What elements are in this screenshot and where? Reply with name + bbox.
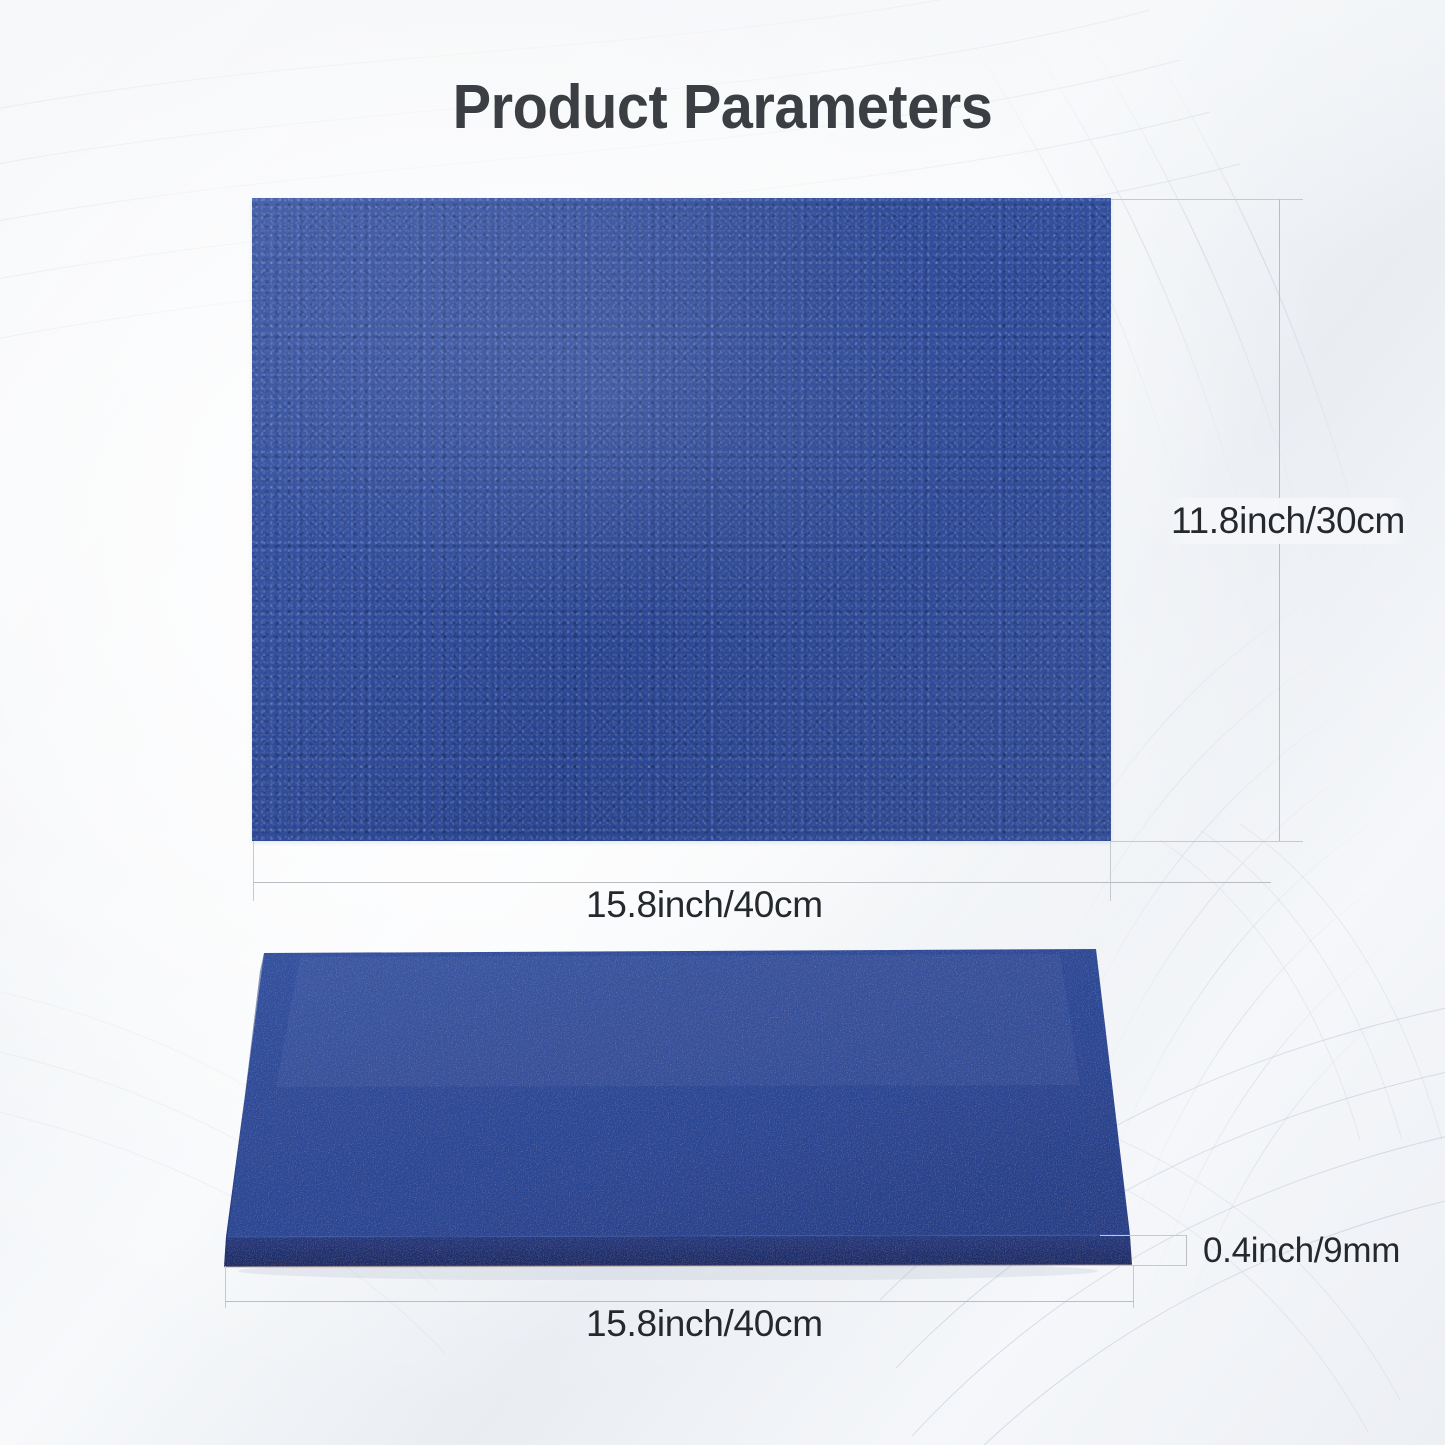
product-front-view <box>252 198 1111 841</box>
thickness-dimension-label: 0.4inch/9mm <box>1203 1231 1400 1271</box>
height-extension-line-top <box>1111 199 1303 200</box>
height-extension-line-bottom <box>1111 841 1303 842</box>
width-perspective-dimension-label: 15.8inch/40cm <box>586 1303 823 1345</box>
panel-sheen-overlay <box>252 198 1111 841</box>
width-front-dimension-label: 15.8inch/40cm <box>586 884 823 926</box>
thickness-dimension-line <box>1186 1235 1187 1266</box>
height-dimension-label: 11.8inch/30cm <box>1165 498 1411 544</box>
product-perspective-view <box>180 935 1140 1280</box>
width-extension-line-right <box>1110 841 1111 901</box>
thickness-extension-line-top <box>1100 1235 1186 1236</box>
width-front-dimension-line <box>253 882 1271 883</box>
width-perspective-dimension-line <box>225 1301 1134 1302</box>
product-parameters-infographic: Product Parameters 11.8inch/30cm 15.8inc… <box>0 0 1445 1445</box>
width-extension-line-left <box>253 841 254 901</box>
thickness-extension-line-bottom <box>1100 1265 1186 1266</box>
page-title: Product Parameters <box>51 72 1395 143</box>
